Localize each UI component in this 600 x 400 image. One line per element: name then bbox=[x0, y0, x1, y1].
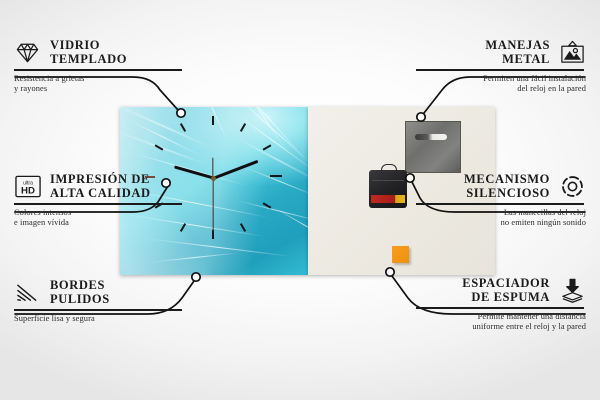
feature-subtitle: Las manecillas del reloj no emiten ningú… bbox=[416, 208, 586, 229]
feature-subtitle: Superficie lisa y segura bbox=[14, 314, 184, 324]
mechanism-battery-band bbox=[371, 195, 405, 203]
feature-subtitle: Permite mantener una distancia uniforme … bbox=[416, 312, 586, 333]
feature-callout-mecanismo-silencioso[interactable]: MECANISMO SILENCIOSO Las manecillas del … bbox=[416, 172, 586, 228]
clock-tick bbox=[270, 175, 282, 177]
feature-callout-manejas-metal[interactable]: MANEJAS METAL Permiten una fácil instala… bbox=[416, 38, 586, 94]
diamond-icon bbox=[14, 39, 41, 66]
feature-subtitle: Colores intensos e imagen vívida bbox=[14, 208, 184, 229]
svg-text:HD: HD bbox=[21, 185, 35, 196]
ultra-hd-icon: ultra HD bbox=[14, 173, 41, 200]
gear-icon bbox=[559, 173, 586, 200]
clock-center-pin bbox=[211, 176, 216, 181]
hanger-slot bbox=[415, 134, 447, 140]
feature-title: MECANISMO SILENCIOSO bbox=[464, 172, 550, 200]
feature-rule bbox=[14, 69, 182, 71]
feature-callout-bordes-pulidos[interactable]: BORDES PULIDOS Superficie lisa y segura bbox=[14, 278, 184, 324]
feature-title: VIDRIO TEMPLADO bbox=[50, 38, 127, 66]
clock-tick bbox=[212, 116, 214, 125]
feature-rule bbox=[416, 203, 584, 205]
metal-hanger-plate bbox=[405, 121, 461, 173]
feature-subtitle: Permiten una fácil instalación del reloj… bbox=[416, 74, 586, 95]
infographic-canvas: VIDRIO TEMPLADO Resistencia a grietas y … bbox=[0, 0, 600, 400]
polished-edges-icon bbox=[14, 279, 41, 306]
feature-callout-espaciador-espuma[interactable]: ESPACIADOR DE ESPUMA Permite mantener un… bbox=[416, 276, 586, 332]
feature-title: ESPACIADOR DE ESPUMA bbox=[462, 276, 550, 304]
feature-callout-impresion-alta-calidad[interactable]: ultra HD IMPRESIÓN DE ALTA CALIDAD Color… bbox=[14, 172, 184, 228]
mechanism-hook bbox=[381, 164, 397, 173]
feature-rule bbox=[416, 307, 584, 309]
feature-rule bbox=[14, 203, 182, 205]
feature-title: MANEJAS METAL bbox=[485, 38, 550, 66]
foam-spacer-pad bbox=[392, 246, 409, 263]
foam-spacer-icon bbox=[559, 277, 586, 304]
feature-subtitle: Resistencia a grietas y rayones bbox=[14, 74, 184, 95]
feature-title: IMPRESIÓN DE ALTA CALIDAD bbox=[50, 172, 151, 200]
feature-rule bbox=[14, 309, 182, 311]
mechanism-seam bbox=[372, 180, 404, 181]
feature-callout-vidrio-templado[interactable]: VIDRIO TEMPLADO Resistencia a grietas y … bbox=[14, 38, 184, 94]
feature-rule bbox=[416, 69, 584, 71]
picture-frame-icon bbox=[559, 39, 586, 66]
feature-title: BORDES PULIDOS bbox=[50, 278, 110, 306]
